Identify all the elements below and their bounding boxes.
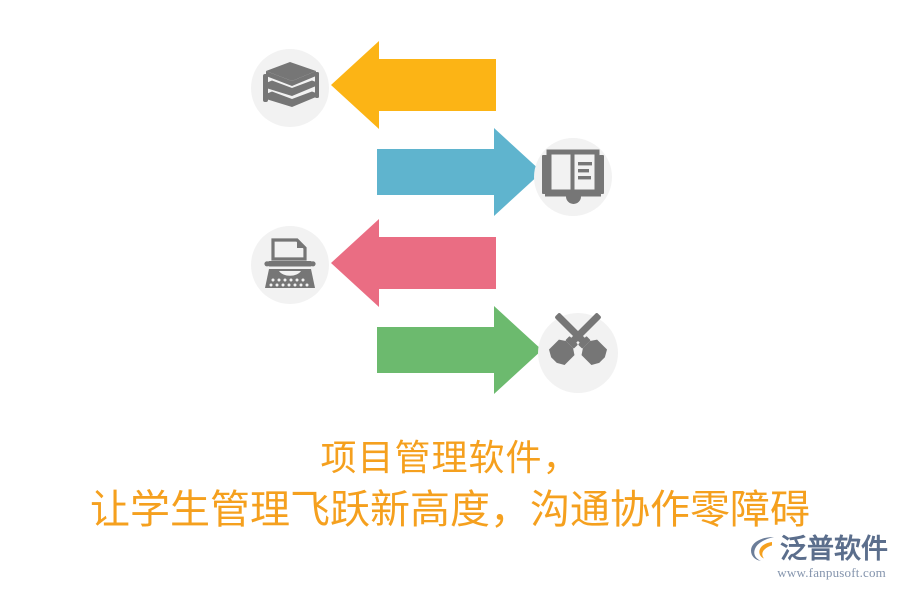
arrow-flow-diagram [0, 0, 900, 430]
blue-right-arrow [377, 128, 542, 216]
logo-brand-name: 泛普软件 [780, 534, 888, 564]
green-right-arrow [377, 306, 542, 394]
flow-row-1 [251, 41, 496, 129]
logo-row: 泛普软件 [738, 534, 888, 564]
poster-canvas: 项目管理软件， 让学生管理飞跃新高度，沟通协作零障碍 泛普软件 www.fanp… [0, 0, 900, 600]
fanpu-swoosh-icon [748, 534, 778, 564]
caption-line-2: 让学生管理飞跃新高度，沟通协作零障碍 [0, 484, 900, 536]
brand-logo[interactable]: 泛普软件 www.fanpusoft.com [738, 534, 888, 592]
logo-url: www.fanpusoft.com [738, 565, 888, 581]
flow-row-4 [377, 306, 618, 394]
caption: 项目管理软件， 让学生管理飞跃新高度，沟通协作零障碍 [0, 432, 900, 536]
flow-row-2 [377, 128, 612, 216]
open-book-icon [542, 152, 604, 204]
pink-left-arrow [331, 219, 496, 307]
caption-line-1: 项目管理软件， [0, 432, 900, 484]
orange-left-arrow [331, 41, 496, 129]
flow-row-3 [251, 219, 496, 307]
